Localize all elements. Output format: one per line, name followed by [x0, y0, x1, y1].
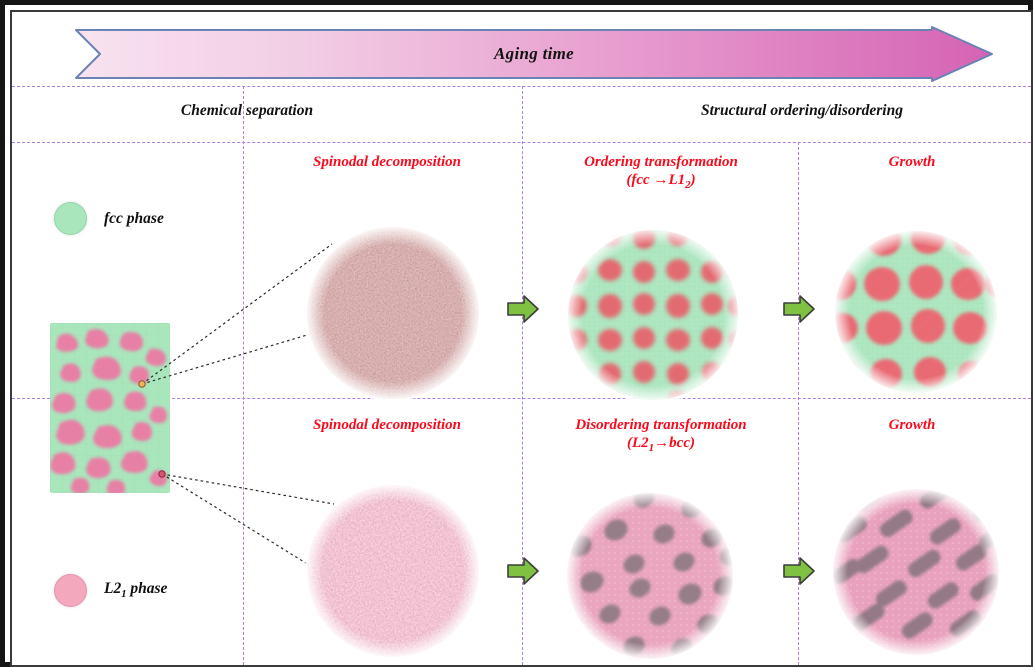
- green-transition-arrow-top-2: [782, 294, 816, 324]
- stage-title-spinodal-decomposition-top: Spinodal decomposition: [257, 153, 517, 171]
- green-transition-arrow-bottom-1: [506, 556, 540, 586]
- microstructure-disordering-transformation: [564, 490, 736, 662]
- stage-title-spinodal-decomposition-bottom: Spinodal decomposition: [257, 416, 517, 434]
- section-title-structural-ordering: Structural ordering/disordering: [602, 102, 1002, 120]
- fcc-phase-swatch-icon: [54, 202, 87, 235]
- figure-inner-frame: Aging time Chemical separation Structura…: [10, 10, 1033, 667]
- divider-col-3: [798, 142, 799, 665]
- l21-phase-swatch-icon: [54, 574, 87, 607]
- green-transition-arrow-top-1: [506, 294, 540, 324]
- green-transition-arrow-bottom-2: [782, 556, 816, 586]
- divider-col-1: [243, 86, 244, 665]
- microstructure-growth-top: [832, 228, 1000, 396]
- aging-time-arrow: Aging time: [74, 26, 994, 82]
- disordering-transformation-formula: (L2: [627, 435, 649, 451]
- microstructure-spinodal-decomposition-bottom: [304, 482, 482, 660]
- ordering-transformation-formula-tail: ): [691, 172, 696, 188]
- stage-title-ordering-transformation: Ordering transformation (fcc →L12): [530, 153, 792, 193]
- legend-fcc-phase: fcc phase: [54, 202, 164, 235]
- disordering-transformation-title: Disordering transformation: [575, 417, 746, 433]
- disordering-transformation-formula-tail: →bcc): [654, 435, 695, 451]
- fcc-phase-label: fcc phase: [104, 210, 164, 228]
- stage-title-growth-bottom: Growth: [812, 416, 1012, 434]
- microstructure-ordering-transformation: [564, 226, 742, 404]
- legend-l21-phase: L21 phase: [54, 574, 167, 607]
- l21-phase-label: L21 phase: [104, 580, 167, 600]
- section-title-chemical-separation: Chemical separation: [112, 102, 382, 120]
- l21-phase-label-main: L2: [104, 580, 121, 597]
- dual-phase-microstructure: [50, 323, 170, 493]
- microstructure-spinodal-decomposition-top: [304, 224, 482, 402]
- ordering-transformation-title: Ordering transformation: [584, 154, 738, 170]
- stage-title-disordering-transformation: Disordering transformation (L21→bcc): [522, 416, 800, 456]
- ordering-transformation-formula: (fcc →L1: [626, 172, 685, 188]
- stage-title-growth-top: Growth: [812, 153, 1012, 171]
- microstructure-growth-bottom: [830, 486, 1002, 658]
- l21-phase-label-tail: phase: [126, 580, 167, 597]
- figure-outer-frame: Aging time Chemical separation Structura…: [0, 0, 1033, 667]
